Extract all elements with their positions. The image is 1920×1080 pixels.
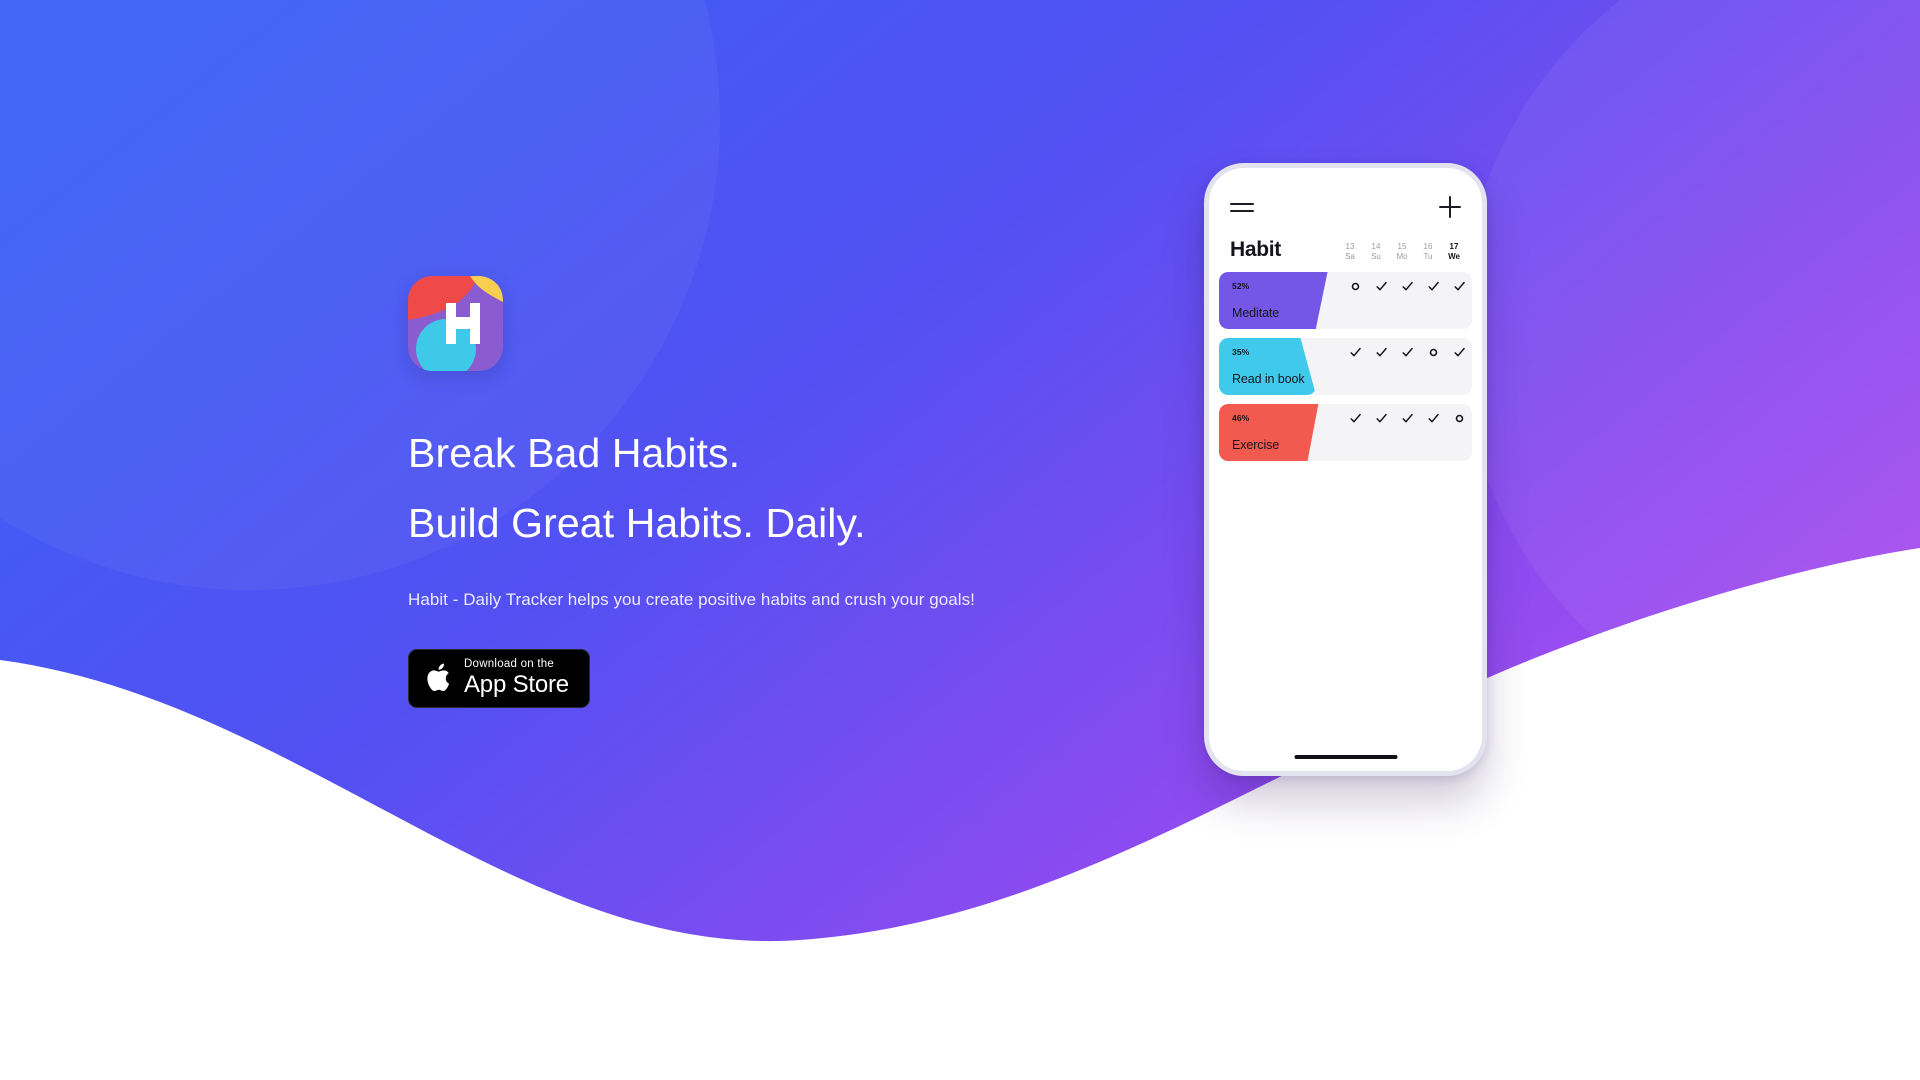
app-top-bar [1209,190,1482,224]
date-weekday: Tu [1415,252,1441,262]
habit-marks [1342,338,1472,366]
date-number: 16 [1415,242,1441,252]
habit-check-mark[interactable] [1420,404,1446,432]
date-column[interactable]: 15Mo [1389,242,1415,262]
check-icon [1375,412,1388,425]
habit-check-mark[interactable] [1342,404,1368,432]
check-icon [1375,280,1388,293]
app-store-big-label: App Store [464,673,569,697]
landing-page: Break Bad Habits. Build Great Habits. Da… [0,0,1920,1080]
hamburger-line [1230,203,1254,205]
date-column[interactable]: 14Su [1363,242,1389,262]
habit-name: Meditate [1232,306,1279,320]
habit-marks [1342,404,1472,432]
habit-check-mark[interactable] [1394,272,1420,300]
date-weekday: Su [1363,252,1389,262]
check-icon [1375,346,1388,359]
app-header: Habit 13Sa14Su15Mo16Tu17We [1209,230,1482,262]
check-icon [1427,280,1440,293]
app-store-labels: Download on the App Store [464,659,569,697]
habit-name: Read in book [1232,372,1304,386]
date-number: 14 [1363,242,1389,252]
check-icon [1453,280,1466,293]
habit-percent: 52% [1232,281,1249,291]
habit-circle-mark[interactable] [1342,272,1368,300]
headline-line-2: Build Great Habits. Daily. [408,488,1168,558]
check-icon [1401,280,1414,293]
habit-circle-mark[interactable] [1446,404,1472,432]
date-number: 13 [1337,242,1363,252]
check-icon [1401,412,1414,425]
habit-check-mark[interactable] [1342,338,1368,366]
hero-content: Break Bad Habits. Build Great Habits. Da… [408,276,1168,708]
habit-name: Exercise [1232,438,1279,452]
phone-screen: Habit 13Sa14Su15Mo16Tu17We 52%Meditate35… [1209,168,1482,771]
habit-percent: 46% [1232,413,1249,423]
habit-check-mark[interactable] [1446,338,1472,366]
check-icon [1401,346,1414,359]
circle-icon [1427,346,1440,359]
habit-row[interactable]: 46%Exercise [1219,404,1472,461]
habit-row[interactable]: 52%Meditate [1219,272,1472,329]
app-logo-graphic [408,276,503,371]
habit-check-mark[interactable] [1394,404,1420,432]
app-store-small-label: Download on the [464,659,569,671]
hero-subtitle: Habit - Daily Tracker helps you create p… [408,588,1168,612]
check-icon [1349,346,1362,359]
circle-icon [1349,280,1362,293]
habit-check-mark[interactable] [1368,338,1394,366]
habit-check-mark[interactable] [1368,272,1394,300]
plus-icon[interactable] [1439,196,1461,218]
date-strip: 13Sa14Su15Mo16Tu17We [1337,242,1467,262]
home-indicator [1294,755,1397,760]
habit-percent: 35% [1232,347,1249,357]
habit-row[interactable]: 35%Read in book [1219,338,1472,395]
date-weekday: Mo [1389,252,1415,262]
check-icon [1349,412,1362,425]
app-title: Habit [1230,238,1281,262]
hamburger-icon[interactable] [1230,200,1254,214]
date-column[interactable]: 17We [1441,242,1467,262]
phone-mockup: Habit 13Sa14Su15Mo16Tu17We 52%Meditate35… [1204,163,1487,776]
habit-check-mark[interactable] [1394,338,1420,366]
date-column[interactable]: 13Sa [1337,242,1363,262]
habit-list: 52%Meditate35%Read in book46%Exercise [1219,272,1472,470]
headline-line-1: Break Bad Habits. [408,430,740,476]
date-weekday: Sa [1337,252,1363,262]
app-store-download-button[interactable]: Download on the App Store [408,649,590,708]
hamburger-line [1230,210,1254,212]
hero-headline: Break Bad Habits. Build Great Habits. Da… [408,418,1168,558]
habit-check-mark[interactable] [1420,272,1446,300]
app-logo [408,276,503,371]
date-weekday: We [1441,252,1467,262]
apple-icon [426,661,453,694]
date-column[interactable]: 16Tu [1415,242,1441,262]
check-icon [1427,412,1440,425]
date-number: 17 [1441,242,1467,252]
circle-icon [1453,412,1466,425]
habit-check-mark[interactable] [1368,404,1394,432]
habit-check-mark[interactable] [1446,272,1472,300]
habit-marks [1342,272,1472,300]
check-icon [1453,346,1466,359]
date-number: 15 [1389,242,1415,252]
habit-circle-mark[interactable] [1420,338,1446,366]
